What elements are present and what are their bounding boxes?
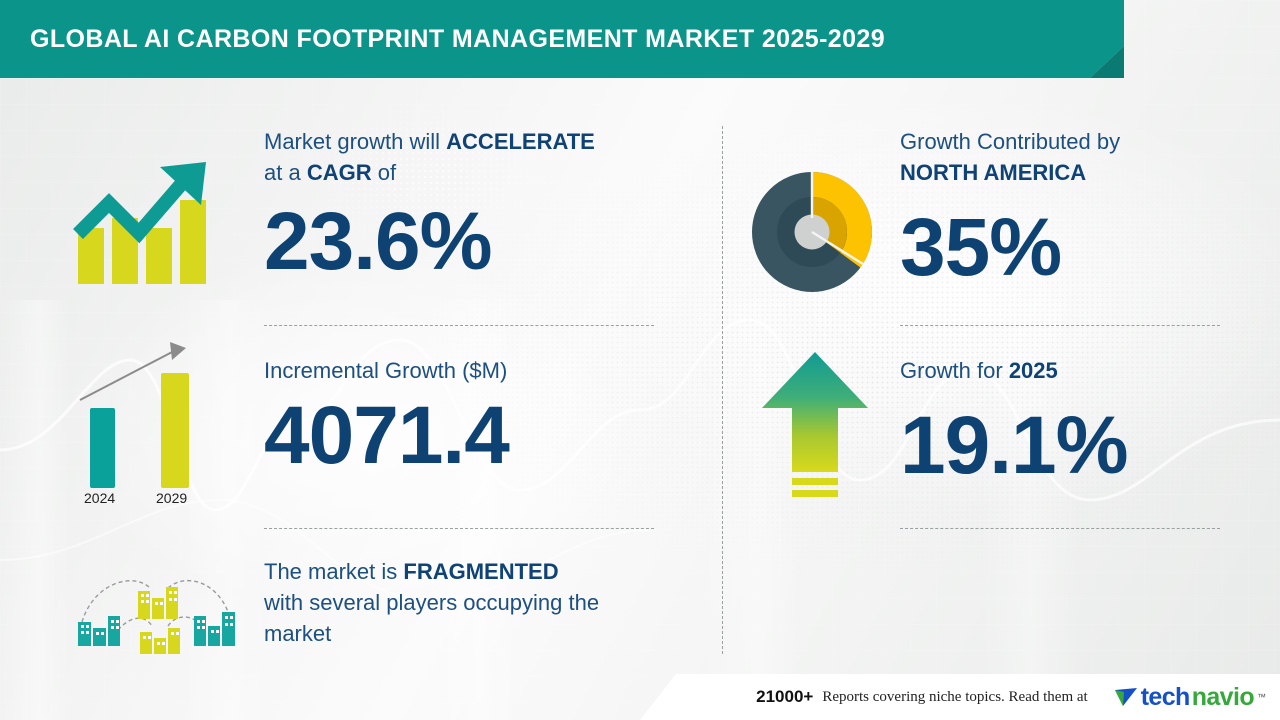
footer-tagline: Reports covering niche topics. Read them… [822,689,1087,706]
bar-label-2024: 2024 [84,490,115,506]
cagr-caption-plain3: of [372,160,396,185]
cagr-stat-block: Market growth will ACCELERATE at a CAGR … [264,126,674,284]
divider-right-upper [900,325,1220,326]
growth-year-caption: Growth for 2025 [900,355,1220,386]
growth-arrow-bars-icon [62,150,222,290]
infographic-canvas: GLOBAL AI CARBON FOOTPRINT MANAGEMENT MA… [0,0,1280,720]
two-bar-comparison-icon: 2024 2029 [70,330,220,515]
cagr-caption-plain1: Market growth will [264,129,446,154]
fragmented-line2: with several players occupying the [264,590,599,615]
fragmented-plain1: The market is [264,559,403,584]
technavio-logo[interactable]: technavio™ [1113,683,1266,712]
growth-year-value: 19.1% [900,404,1220,488]
page-title: GLOBAL AI CARBON FOOTPRINT MANAGEMENT MA… [30,0,885,78]
region-contribution-caption: Growth Contributed by NORTH AMERICA [900,126,1220,188]
incremental-growth-value: 4071.4 [264,394,674,478]
technavio-logo-navio: navio [1192,683,1254,712]
footer-report-count: 21000+ [756,687,813,707]
regional-share-donut-chart-icon [748,168,876,296]
region-caption-line1: Growth Contributed by [900,129,1120,154]
growth-year-bold: 2025 [1009,358,1058,383]
technavio-logo-trademark: ™ [1257,692,1266,702]
gradient-up-arrow-icon [760,350,870,505]
cagr-caption: Market growth will ACCELERATE at a CAGR … [264,126,674,188]
region-caption-name: NORTH AMERICA [900,160,1086,185]
divider-left-upper [264,325,654,326]
cagr-caption-accelerate: ACCELERATE [446,129,595,154]
technavio-logo-tech: tech [1141,683,1190,712]
column-divider [722,126,723,654]
fragmented-market-stat-block: The market is FRAGMENTED with several pl… [264,556,684,649]
footer-bar: 21000+ Reports covering niche topics. Re… [0,674,1280,720]
technavio-mark-icon [1113,685,1139,709]
fragmented-line3: market [264,621,331,646]
divider-left-lower [264,528,654,529]
bar-label-2029: 2029 [156,490,187,506]
growth-year-stat-block: Growth for 2025 19.1% [900,355,1220,488]
growth-year-plain: Growth for [900,358,1009,383]
divider-right-lower [900,528,1220,529]
cagr-caption-cagr: CAGR [307,160,372,185]
fragmented-bold: FRAGMENTED [403,559,558,584]
fragmented-market-cities-icon [72,560,242,660]
incremental-growth-stat-block: Incremental Growth ($M) 4071.4 [264,355,674,478]
cagr-value: 23.6% [264,200,674,284]
fragmented-market-caption: The market is FRAGMENTED with several pl… [264,556,684,649]
cagr-caption-plain2: at a [264,160,307,185]
incremental-growth-caption: Incremental Growth ($M) [264,355,674,386]
region-contribution-value: 35% [900,206,1220,290]
region-contribution-stat-block: Growth Contributed by NORTH AMERICA 35% [900,126,1220,290]
